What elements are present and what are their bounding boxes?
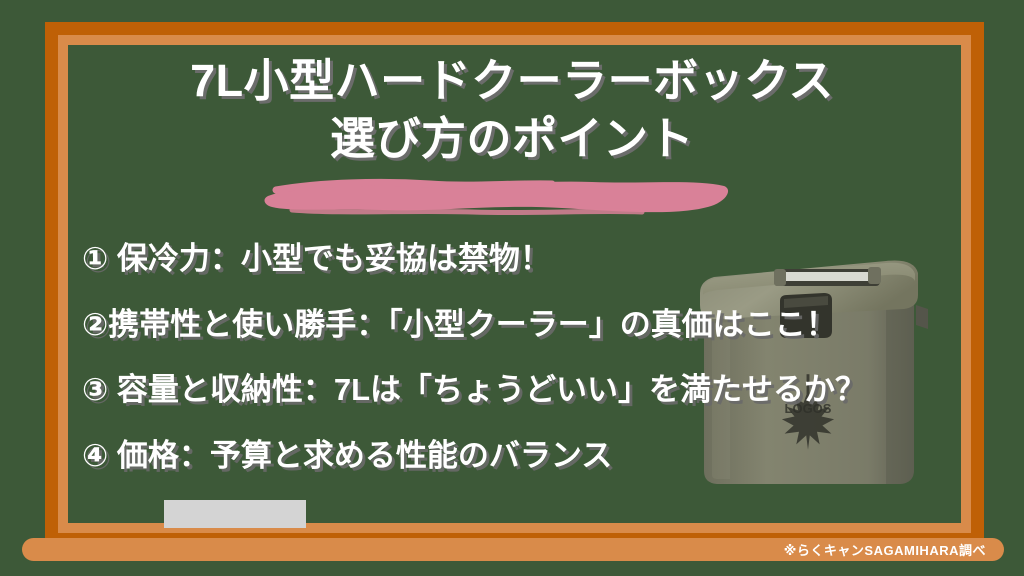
list-item: ① 保冷力：小型でも妥協は禁物！ [82, 243, 964, 276]
points-list: ① 保冷力：小型でも妥協は禁物！ ②携帯性と使い勝手：「小型クーラー」の真価はこ… [82, 243, 964, 472]
list-item: ③ 容量と収納性：7Lは「ちょうどいい」を満たせるか？ [82, 374, 964, 407]
source-credit: ※らくキャンSAGAMIHARA調べ [766, 538, 1004, 561]
title-line-2: 選び方のポイント [330, 110, 694, 168]
slide-canvas: LOGOS 7L小型ハードクーラーボックス 選び方のポイント ① 保冷力：小型で… [0, 0, 1024, 576]
page-title: 7L小型ハードクーラーボックス 選び方のポイント [0, 52, 1024, 167]
chalk-eraser [164, 500, 306, 528]
list-item: ④ 価格：予算と求める性能のバランス [82, 440, 964, 473]
list-item: ②携帯性と使い勝手：「小型クーラー」の真価はここ！ [82, 309, 964, 342]
title-line-1: 7L小型ハードクーラーボックス [0, 52, 1024, 110]
